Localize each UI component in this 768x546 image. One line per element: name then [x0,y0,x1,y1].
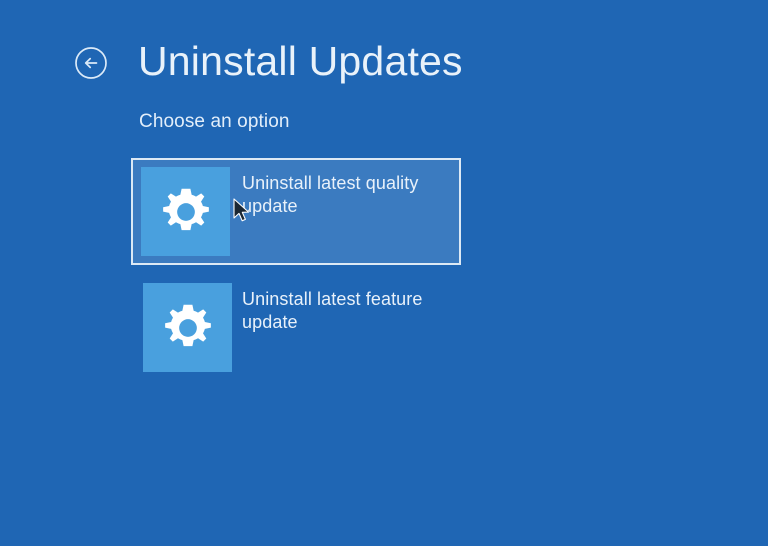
back-arrow-icon[interactable] [74,46,108,80]
option-uninstall-latest-feature-update[interactable]: Uninstall latest feature update [131,272,461,379]
page-header: Uninstall Updates [74,36,463,86]
gear-icon [141,167,230,256]
choose-option-subtitle: Choose an option [139,111,290,134]
page-title: Uninstall Updates [138,41,463,82]
option-label: Uninstall latest quality update [242,172,459,218]
option-label: Uninstall latest feature update [242,288,459,334]
option-uninstall-latest-quality-update[interactable]: Uninstall latest quality update [131,158,461,265]
option-list: Uninstall latest quality update Uninstal… [131,158,461,386]
gear-icon [143,283,232,372]
